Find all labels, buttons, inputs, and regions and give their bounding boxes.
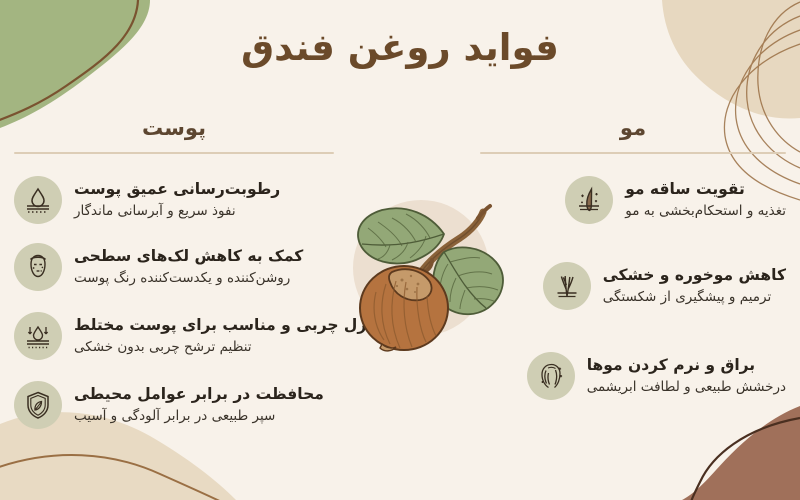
benefit-title: کاهش موخوره و خشکی: [603, 265, 786, 285]
section-divider-skin: [14, 152, 334, 154]
benefit-title: براق و نرم کردن موها: [587, 355, 755, 375]
benefit-item-hair-split-ends: کاهش موخوره و خشکی ترمیم و پیشگیری از شک…: [543, 262, 786, 310]
split-ends-icon: [543, 262, 591, 310]
droplet-layers-icon: [14, 176, 62, 224]
shiny-hair-icon: [527, 352, 575, 400]
benefit-title: تقویت ساقه مو: [625, 179, 745, 199]
section-title-skin: پوست: [14, 118, 334, 139]
benefit-item-hair-shine: براق و نرم کردن موها درخشش طبیعی و لطافت…: [527, 352, 786, 400]
hair-follicle-icon: [565, 176, 613, 224]
benefit-item-skin-hydration: رطوبت‌رسانی عمیق پوست نفوذ سریع و آبرسان…: [14, 176, 280, 224]
benefit-subtitle: ترمیم و پیشگیری از شکستگی: [603, 288, 771, 306]
benefit-title: محافظت در برابر عوامل محیطی: [74, 384, 324, 404]
benefit-subtitle: سپر طبیعی در برابر آلودگی و آسیب: [74, 407, 275, 425]
shield-leaf-icon: [14, 381, 62, 429]
hazelnut-illustration: [326, 168, 512, 362]
benefit-subtitle: روشن‌کننده و یکدست‌کننده رنگ پوست: [74, 269, 290, 287]
page-title: فواید روغن فندق: [0, 26, 800, 69]
section-header-hair: مو: [480, 118, 786, 154]
bottom-right-dark-curve: [691, 418, 800, 500]
oil-control-icon: [14, 312, 62, 360]
section-title-hair: مو: [480, 118, 786, 139]
benefit-item-skin-protection: محافظت در برابر عوامل محیطی سپر طبیعی در…: [14, 381, 324, 429]
bottom-right-brown-blob: [682, 406, 800, 500]
section-header-skin: پوست: [14, 118, 334, 154]
benefit-title: کمک به کاهش لک‌های سطحی: [74, 246, 303, 266]
benefit-title: رطوبت‌رسانی عمیق پوست: [74, 179, 280, 199]
benefit-subtitle: درخشش طبیعی و لطافت ابریشمی: [587, 378, 786, 396]
benefit-subtitle: تنظیم ترشح چربی بدون خشکی: [74, 338, 252, 356]
benefit-item-hair-strength: تقویت ساقه مو تغذیه و استحکام‌بخشی به مو: [565, 176, 786, 224]
benefit-item-skin-spots: کمک به کاهش لک‌های سطحی روشن‌کننده و یکد…: [14, 243, 303, 291]
face-spots-icon: [14, 243, 62, 291]
bottom-left-brown-curve: [0, 455, 230, 500]
section-divider-hair: [480, 152, 786, 154]
benefit-subtitle: تغذیه و استحکام‌بخشی به مو: [625, 202, 786, 220]
infographic-canvas: فواید روغن فندق پوست مو رطوبت‌رسانی عمیق…: [0, 0, 800, 500]
benefit-subtitle: نفوذ سریع و آبرسانی ماندگار: [74, 202, 236, 220]
